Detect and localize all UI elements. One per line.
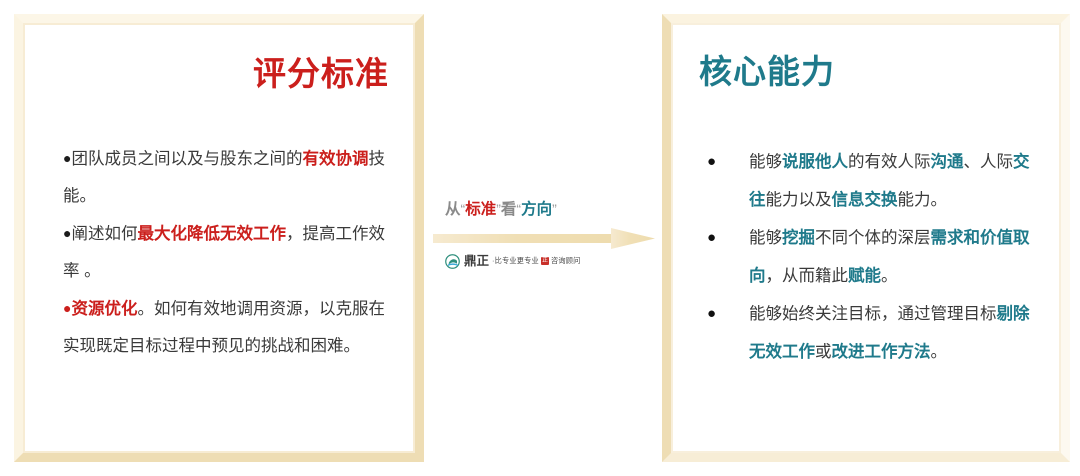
left-bullet-item: ●资源优化。如何有效地调用资源，以克服在实现既定目标过程中预见的挑战和困难。 <box>63 290 387 365</box>
logo-badge: 正 <box>541 257 549 265</box>
left-panel-body: ●团队成员之间以及与股东之间的有效协调技能。●阐述如何最大化降低无效工作，提高工… <box>63 140 387 365</box>
logo-tagline: ·比专业更专业 <box>492 257 539 265</box>
body-text: 。 <box>931 343 948 361</box>
left-panel-title: 评分标准 <box>253 57 389 90</box>
body-text: 。 <box>881 267 898 285</box>
caption-teal: 方向 <box>521 201 552 218</box>
body-text: 或 <box>815 343 832 361</box>
body-text: 团队成员之间以及与股东之间的 <box>71 150 302 168</box>
left-bullet-item: ●阐述如何最大化降低无效工作，提高工作效率 。 <box>63 215 387 290</box>
highlight-red: 最大化降低无效工作 <box>137 225 286 243</box>
left-bullet-item: ●团队成员之间以及与股东之间的有效协调技能。 <box>63 140 387 215</box>
highlight-teal: 信息交换 <box>832 191 898 209</box>
body-text: 能够 <box>749 153 782 171</box>
logo-subtitle: 咨询顾问 <box>551 256 581 266</box>
right-bullet-item: ●能够始终关注目标，通过管理目标剔除无效工作或改进工作方法。 <box>703 295 1041 371</box>
highlight-teal: 沟通 <box>931 153 964 171</box>
body-text: ，从而籍此 <box>766 267 849 285</box>
brand-logo: 鼎正 ·比专业更专业 正 咨询顾问 <box>445 251 581 271</box>
highlight-teal: 改进工作方法 <box>832 343 931 361</box>
body-text: 能力。 <box>898 191 948 209</box>
transition-arrow-block: 从“标准”看“方向” 鼎正 ·比专业更专业 正 咨询顾问 <box>443 198 655 280</box>
highlight-red: 有效协调 <box>302 150 368 168</box>
right-arrow-icon <box>433 228 655 250</box>
bullet-marker-icon: ● <box>707 219 716 257</box>
left-panel: 评分标准 ●团队成员之间以及与股东之间的有效协调技能。●阐述如何最大化降低无效工… <box>14 14 424 462</box>
body-text: 能够 <box>749 229 782 247</box>
right-panel-title: 核心能力 <box>699 55 835 88</box>
logo-name: 鼎正 <box>464 255 489 268</box>
right-panel: 核心能力 ●能够说服他人的有效人际沟通、人际交往能力以及信息交换能力。●能够挖掘… <box>662 14 1070 462</box>
arrow-caption: 从“标准”看“方向” <box>445 198 557 221</box>
highlight-teal: 赋能 <box>848 267 881 285</box>
right-bullet-item: ●能够说服他人的有效人际沟通、人际交往能力以及信息交换能力。 <box>703 143 1041 219</box>
highlight-teal: 挖掘 <box>782 229 815 247</box>
body-text: 的有效人际 <box>848 153 931 171</box>
body-text: 能力以及 <box>766 191 832 209</box>
caption-text: 看 <box>501 201 517 218</box>
right-panel-inner: 核心能力 ●能够说服他人的有效人际沟通、人际交往能力以及信息交换能力。●能够挖掘… <box>671 23 1061 453</box>
slide-canvas: 评分标准 ●团队成员之间以及与股东之间的有效协调技能。●阐述如何最大化降低无效工… <box>0 0 1080 476</box>
caption-red: 标准 <box>465 201 496 218</box>
caption-quote: ” <box>552 201 557 217</box>
bullet-marker-icon: ● <box>707 143 716 181</box>
body-text: 不同个体的深层 <box>815 229 931 247</box>
body-text: 阐述如何 <box>71 225 137 243</box>
left-panel-inner: 评分标准 ●团队成员之间以及与股东之间的有效协调技能。●阐述如何最大化降低无效工… <box>23 23 415 453</box>
body-text: 、人际 <box>964 153 1014 171</box>
right-panel-body: ●能够说服他人的有效人际沟通、人际交往能力以及信息交换能力。●能够挖掘不同个体的… <box>703 143 1041 371</box>
right-bullet-item: ●能够挖掘不同个体的深层需求和价值取向，从而籍此赋能。 <box>703 219 1041 295</box>
body-text: 能够始终关注目标，通过管理目标 <box>749 305 997 323</box>
highlight-red: 资源优化 <box>71 300 137 318</box>
highlight-teal: 说服他人 <box>782 153 848 171</box>
bullet-marker-icon: ● <box>707 295 716 333</box>
logo-circle-icon <box>445 254 460 269</box>
caption-text: 从 <box>445 201 461 218</box>
